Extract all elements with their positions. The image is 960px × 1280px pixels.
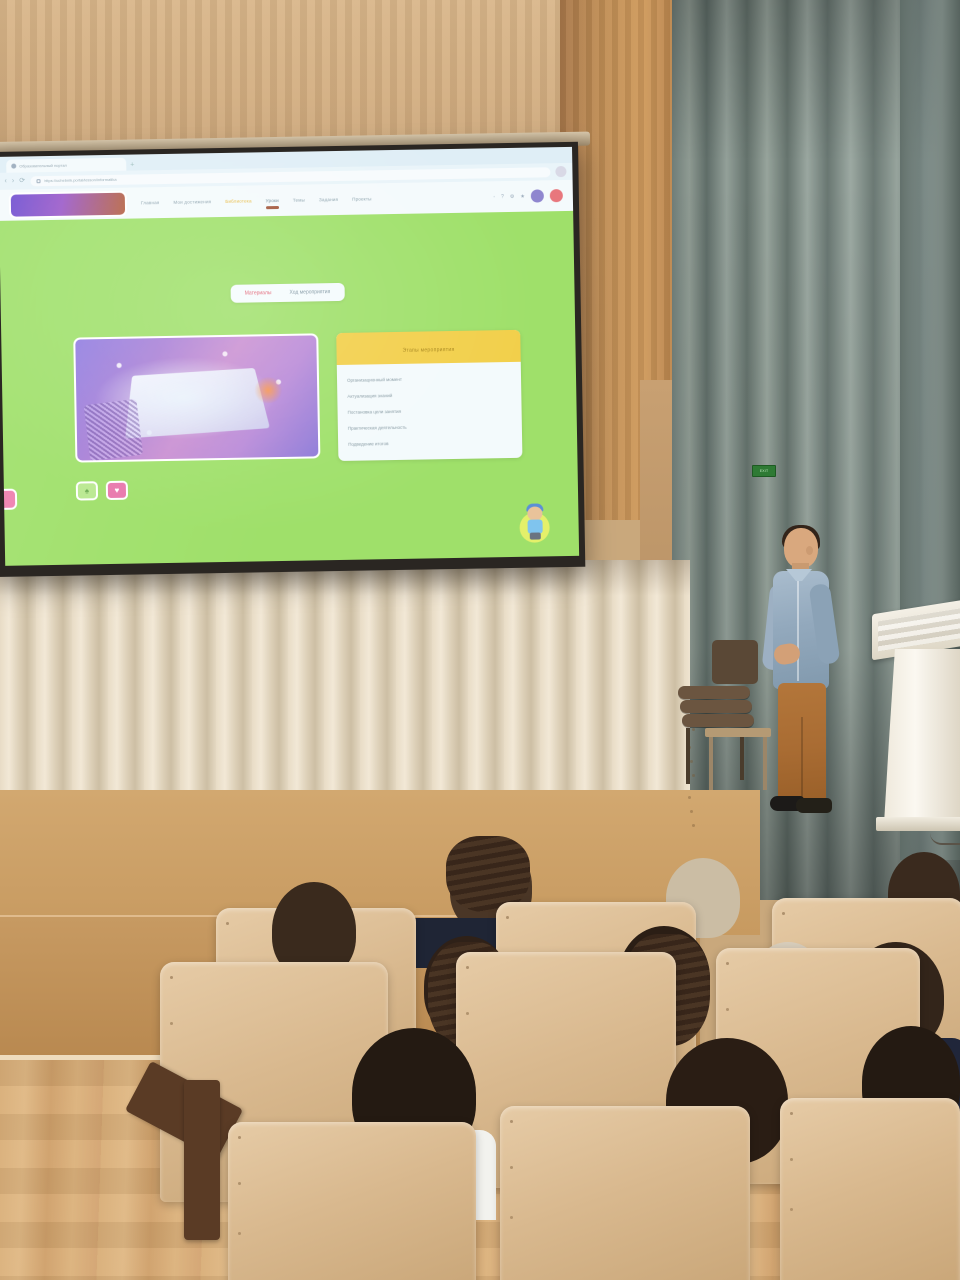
nav-item-3[interactable]: Уроки [266, 198, 279, 203]
auditorium-scene: EXIT Образовательный портал + ‹ › ⟳ [0, 0, 960, 1280]
seat-armrest [184, 1080, 220, 1240]
dislike-button[interactable]: ♥ [106, 481, 128, 500]
exit-sign: EXIT [752, 465, 776, 477]
nav-item-6[interactable]: Проекты [352, 196, 372, 201]
audience-seating [0, 830, 960, 1280]
nav-item-4[interactable]: Темы [293, 198, 305, 203]
slide-action-buttons: ♠ ♥ [76, 481, 128, 501]
chair-seat [682, 714, 754, 727]
table-leg [709, 737, 713, 790]
chair-leg [686, 728, 690, 784]
lock-icon [36, 179, 40, 183]
stages-card: Этапы мероприятия Организационный момент… [336, 330, 522, 461]
settings-icon[interactable]: ⚙ [510, 193, 515, 199]
presenter-ear [806, 546, 813, 555]
bell-icon[interactable]: ◦ [493, 194, 495, 200]
star-icon[interactable]: ★ [520, 193, 525, 199]
slide-tabs: Материалы Ход мероприятия [231, 283, 345, 303]
chair-seat [678, 686, 750, 699]
favicon-icon [11, 164, 16, 169]
site-toolbar: ◦ ? ⚙ ★ [493, 189, 563, 203]
reload-icon[interactable]: ⟳ [19, 177, 25, 184]
address-bar-text: https://uchebnik.portal/lesson/informati… [44, 177, 117, 183]
mascot-legs [530, 532, 541, 539]
site-logo[interactable] [9, 190, 127, 218]
audience-braid [446, 836, 530, 912]
site-navigation: Главная Мои достижения Библиотека Уроки … [141, 194, 494, 205]
nav-item-2[interactable]: Библиотека [225, 198, 252, 203]
chair-seat [680, 700, 752, 713]
presenter-student [756, 528, 852, 828]
stages-list: Организационный момент Актуализация знан… [337, 362, 523, 461]
browser-tab-title: Образовательный портал [19, 163, 67, 169]
podium-column [884, 649, 960, 824]
light-glow [253, 377, 283, 404]
chair-backrest [712, 640, 758, 684]
seat[interactable] [500, 1106, 750, 1280]
projection-screen: Образовательный портал + ‹ › ⟳ https://u… [0, 147, 579, 566]
presenter-shoe-right [796, 798, 832, 813]
help-icon[interactable]: ? [501, 194, 504, 200]
exit-sign-label: EXIT [760, 469, 769, 473]
stages-card-header: Этапы мероприятия [336, 330, 521, 365]
mascot-character [516, 500, 553, 543]
presenter-head [784, 528, 818, 568]
projection-screen-frame: Образовательный портал + ‹ › ⟳ https://u… [0, 142, 585, 577]
tab-materials[interactable]: Материалы [245, 290, 272, 296]
lesson-image[interactable] [73, 333, 320, 462]
browser-tab[interactable]: Образовательный портал [6, 158, 126, 173]
seat[interactable] [780, 1098, 960, 1280]
back-icon[interactable]: ‹ [4, 178, 6, 185]
nav-item-0[interactable]: Главная [141, 200, 160, 205]
slide-cards: Этапы мероприятия Организационный момент… [73, 330, 522, 466]
nav-item-5[interactable]: Задания [319, 197, 338, 202]
seat[interactable] [228, 1122, 476, 1280]
stages-card-title: Этапы мероприятия [402, 347, 454, 354]
logout-avatar[interactable] [550, 189, 563, 202]
side-tab[interactable] [0, 489, 17, 510]
nav-item-1[interactable]: Мои достижения [173, 199, 211, 205]
user-avatar[interactable] [531, 189, 544, 202]
browser-nav-buttons: ‹ › ⟳ [4, 177, 25, 184]
list-item[interactable]: Подведение итогов [348, 433, 512, 452]
forward-icon[interactable]: › [12, 178, 14, 185]
browser-profile-avatar[interactable] [555, 166, 566, 177]
like-button[interactable]: ♠ [76, 481, 98, 500]
new-tab-icon[interactable]: + [130, 162, 134, 171]
sleeve-shape [83, 399, 142, 461]
tab-event-flow[interactable]: Ход мероприятия [289, 289, 330, 296]
site-content: Материалы Ход мероприятия Этапы мероприя… [0, 211, 579, 566]
laptop-shape [125, 368, 269, 439]
presenter-trousers [778, 683, 826, 801]
podium [872, 605, 960, 845]
